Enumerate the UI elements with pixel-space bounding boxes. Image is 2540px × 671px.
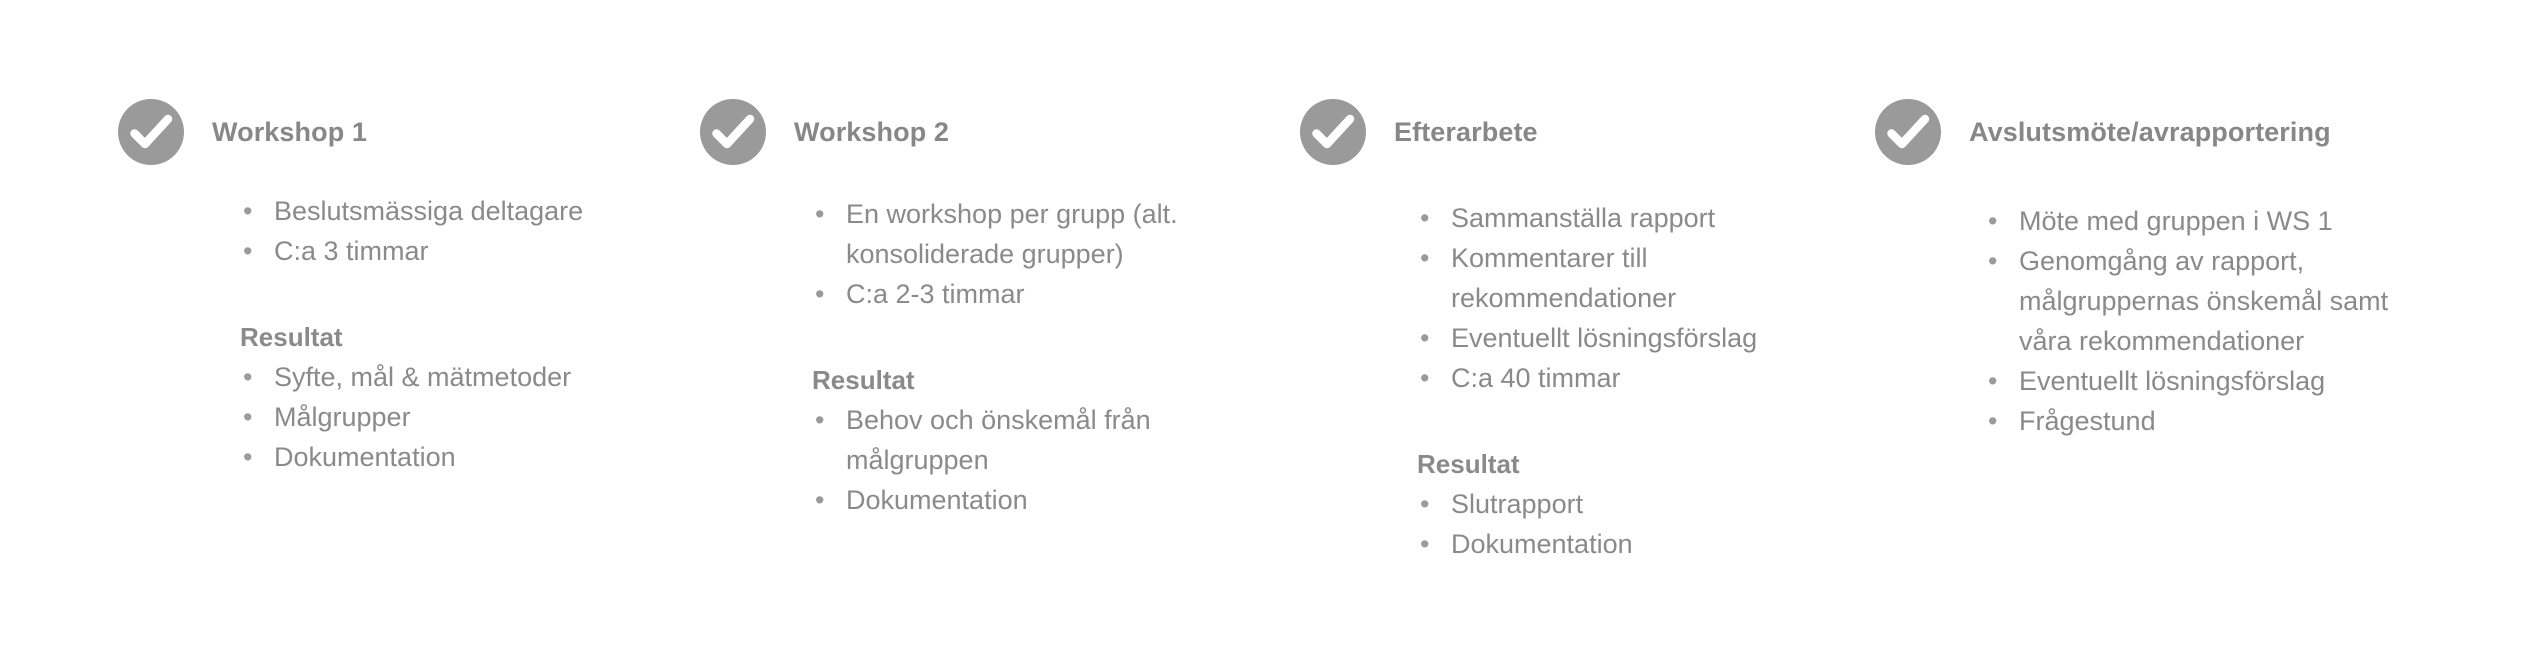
process-column-2: Workshop 2 •En workshop per grupp (alt. … — [700, 0, 1260, 671]
list-item-text: C:a 2-3 timmar — [846, 279, 1025, 309]
process-column-1: Workshop 1 •Beslutsmässiga deltagare •C:… — [118, 0, 678, 671]
list-item: •Eventuellt lösningsförslag — [1417, 318, 1857, 358]
column-header-3: Efterarbete — [1300, 99, 1538, 165]
bullet-dot: • — [1988, 201, 1997, 241]
column-header-2: Workshop 2 — [700, 99, 949, 165]
bullet-block: •Sammanställa rapport •Kommentarer till … — [1417, 198, 1857, 398]
list-item-text: Eventuellt lösningsförslag — [1451, 323, 1757, 353]
column-title: Workshop 1 — [212, 117, 367, 148]
list-item: •En workshop per grupp (alt. konsolidera… — [812, 194, 1262, 274]
list-item-text: Möte med gruppen i WS 1 — [2019, 206, 2333, 236]
result-heading: Resultat — [1417, 444, 1857, 484]
bullet-dot: • — [1988, 241, 1997, 281]
bullet-list: •Möte med gruppen i WS 1 •Genomgång av r… — [1985, 201, 2400, 441]
bullet-dot: • — [243, 357, 252, 397]
block-spacer — [1417, 398, 1857, 444]
bullet-block: Resultat •Slutrapport •Dokumentation — [1417, 444, 1857, 564]
list-item-text: Dokumentation — [1451, 529, 1633, 559]
bullet-block: Resultat •Behov och önskemål från målgru… — [812, 360, 1262, 520]
result-heading: Resultat — [812, 360, 1262, 400]
bullet-list: •Sammanställa rapport •Kommentarer till … — [1417, 198, 1857, 398]
list-item-text: Målgrupper — [274, 402, 411, 432]
bullet-dot: • — [1420, 358, 1429, 398]
list-item: •Eventuellt lösningsförslag — [1985, 361, 2400, 401]
bullet-block: Resultat •Syfte, mål & mätmetoder •Målgr… — [240, 317, 680, 477]
bullet-block: •Möte med gruppen i WS 1 •Genomgång av r… — [1985, 201, 2400, 441]
check-circle-icon — [1875, 99, 1941, 165]
column-header-1: Workshop 1 — [118, 99, 367, 165]
list-item-text: En workshop per grupp (alt. konsoliderad… — [846, 199, 1178, 269]
bullet-dot: • — [243, 231, 252, 271]
list-item-text: Beslutsmässiga deltagare — [274, 196, 583, 226]
column-title: Efterarbete — [1394, 117, 1538, 148]
list-item: •Slutrapport — [1417, 484, 1857, 524]
bullet-dot: • — [243, 437, 252, 477]
block-spacer — [812, 314, 1262, 360]
list-item: •Kommentarer till rekommendationer — [1417, 238, 1857, 318]
list-item-text: Sammanställa rapport — [1451, 203, 1715, 233]
list-item: •Frågestund — [1985, 401, 2400, 441]
bullet-list: •Behov och önskemål från målgruppen •Dok… — [812, 400, 1262, 520]
column-body-1: •Beslutsmässiga deltagare •C:a 3 timmar … — [240, 191, 680, 477]
column-body-3: •Sammanställa rapport •Kommentarer till … — [1417, 198, 1857, 564]
bullet-dot: • — [815, 274, 824, 314]
list-item-text: Slutrapport — [1451, 489, 1583, 519]
bullet-list: •Syfte, mål & mätmetoder •Målgrupper •Do… — [240, 357, 680, 477]
bullet-dot: • — [243, 397, 252, 437]
list-item: •C:a 3 timmar — [240, 231, 680, 271]
list-item-text: C:a 3 timmar — [274, 236, 429, 266]
list-item-text: Behov och önskemål från målgruppen — [846, 405, 1151, 475]
list-item: •C:a 40 timmar — [1417, 358, 1857, 398]
list-item-text: C:a 40 timmar — [1451, 363, 1621, 393]
bullet-dot: • — [1420, 238, 1429, 278]
list-item-text: Kommentarer till rekommendationer — [1451, 243, 1676, 313]
list-item: •Målgrupper — [240, 397, 680, 437]
list-item: •Behov och önskemål från målgruppen — [812, 400, 1262, 480]
process-steps-board: Workshop 1 •Beslutsmässiga deltagare •C:… — [0, 0, 2540, 671]
column-header-4: Avslutsmöte/avrapportering — [1875, 99, 2331, 165]
list-item: •C:a 2-3 timmar — [812, 274, 1262, 314]
process-column-4: Avslutsmöte/avrapportering •Möte med gru… — [1875, 0, 2495, 671]
check-circle-icon — [1300, 99, 1366, 165]
column-title: Avslutsmöte/avrapportering — [1969, 117, 2331, 148]
list-item-text: Syfte, mål & mätmetoder — [274, 362, 571, 392]
bullet-dot: • — [815, 400, 824, 440]
list-item: •Beslutsmässiga deltagare — [240, 191, 680, 231]
check-circle-icon — [700, 99, 766, 165]
list-item-text: Frågestund — [2019, 406, 2156, 436]
bullet-dot: • — [1988, 401, 1997, 441]
block-spacer — [240, 271, 680, 317]
list-item: •Syfte, mål & mätmetoder — [240, 357, 680, 397]
list-item-text: Dokumentation — [846, 485, 1028, 515]
list-item: •Sammanställa rapport — [1417, 198, 1857, 238]
list-item: •Dokumentation — [240, 437, 680, 477]
bullet-block: •Beslutsmässiga deltagare •C:a 3 timmar — [240, 191, 680, 271]
bullet-dot: • — [815, 480, 824, 520]
bullet-dot: • — [815, 194, 824, 234]
bullet-dot: • — [1988, 361, 1997, 401]
bullet-dot: • — [1420, 198, 1429, 238]
bullet-list: •En workshop per grupp (alt. konsolidera… — [812, 194, 1262, 314]
result-heading: Resultat — [240, 317, 680, 357]
list-item: •Dokumentation — [1417, 524, 1857, 564]
list-item: •Dokumentation — [812, 480, 1262, 520]
bullet-list: •Beslutsmässiga deltagare •C:a 3 timmar — [240, 191, 680, 271]
bullet-block: •En workshop per grupp (alt. konsolidera… — [812, 194, 1262, 314]
bullet-list: •Slutrapport •Dokumentation — [1417, 484, 1857, 564]
list-item-text: Genomgång av rapport, målgruppernas önsk… — [2019, 246, 2388, 356]
check-circle-icon — [118, 99, 184, 165]
column-body-2: •En workshop per grupp (alt. konsolidera… — [812, 194, 1262, 520]
bullet-dot: • — [1420, 318, 1429, 358]
list-item: •Möte med gruppen i WS 1 — [1985, 201, 2400, 241]
bullet-dot: • — [243, 191, 252, 231]
column-body-4: •Möte med gruppen i WS 1 •Genomgång av r… — [1985, 201, 2400, 441]
list-item: •Genomgång av rapport, målgruppernas öns… — [1985, 241, 2400, 361]
bullet-dot: • — [1420, 524, 1429, 564]
bullet-dot: • — [1420, 484, 1429, 524]
process-column-3: Efterarbete •Sammanställa rapport •Komme… — [1300, 0, 1860, 671]
list-item-text: Dokumentation — [274, 442, 456, 472]
list-item-text: Eventuellt lösningsförslag — [2019, 366, 2325, 396]
column-title: Workshop 2 — [794, 117, 949, 148]
